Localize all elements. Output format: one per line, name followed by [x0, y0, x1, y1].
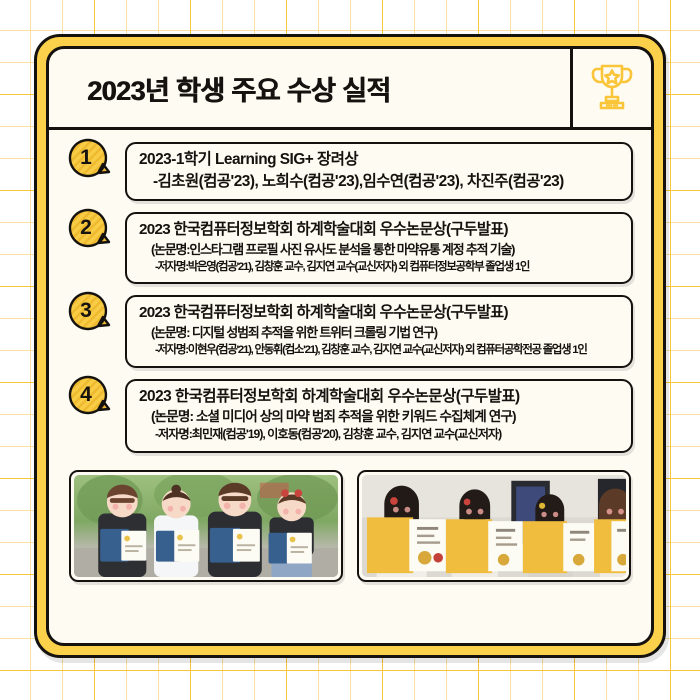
award-authors: -저자명:최민재(컴공'19), 이호동(컴공'20), 김창훈 교수, 김지연… — [139, 426, 621, 444]
list-item: 2 2023 한국컴퓨터정보학회 하계학술대회 우수논문상(구두발표) (논문명… — [67, 212, 633, 284]
badge-number-3: 3 — [67, 291, 111, 335]
badge-number-4: 4 — [67, 375, 111, 419]
page-title: 2023년 학생 주요 수상 실적 — [87, 69, 390, 108]
award-title: 2023 한국컴퓨터정보학회 하계학술대회 우수논문상(구두발표) — [139, 303, 621, 324]
title-zone: 2023년 학생 주요 수상 실적 — [49, 49, 570, 127]
poster-inner-panel: 2023년 학생 주요 수상 실적 — [46, 46, 654, 646]
award-photo-right — [357, 470, 631, 582]
badge-number-1: 1 — [67, 138, 111, 182]
award-title: 2023-1학기 Learning SIG+ 장려상 — [139, 150, 621, 171]
award-card: 2023 한국컴퓨터정보학회 하계학술대회 우수논문상(구두발표) (논문명: … — [125, 379, 633, 454]
list-item: 3 2023 한국컴퓨터정보학회 하계학술대회 우수논문상(구두발표) (논문명… — [67, 295, 633, 367]
badge-number-2: 2 — [67, 208, 111, 252]
award-poster-card: 2023년 학생 주요 수상 실적 — [34, 34, 666, 658]
trophy-cell — [570, 49, 651, 127]
poster-header: 2023년 학생 주요 수상 실적 — [49, 49, 651, 130]
award-photo-left — [69, 470, 343, 582]
badge-label: 2 — [67, 208, 105, 248]
list-item: 1 2023-1학기 Learning SIG+ 장려상 -김초원(컴공'23)… — [67, 142, 633, 201]
award-paper-title: (논문명: 디지털 성범죄 추적을 위한 트위터 크롤링 기법 연구) — [139, 324, 621, 342]
award-list: 1 2023-1학기 Learning SIG+ 장려상 -김초원(컴공'23)… — [49, 130, 651, 453]
award-authors: -저자명:이현우(컴공'21), 안동휘(컴소'21), 김창훈 교수, 김지연… — [139, 342, 621, 359]
award-title: 2023 한국컴퓨터정보학회 하계학술대회 우수논문상(구두발표) — [139, 220, 621, 241]
award-card: 2023-1학기 Learning SIG+ 장려상 -김초원(컴공'23), … — [125, 142, 633, 201]
award-authors: -저자명:박은영(컴공'21), 김창훈 교수, 김지연 교수(교신저자) 외 … — [139, 259, 621, 276]
badge-label: 4 — [67, 375, 105, 415]
list-item: 4 2023 한국컴퓨터정보학회 하계학술대회 우수논문상(구두발표) (논문명… — [67, 379, 633, 454]
photo-gallery — [49, 464, 651, 582]
award-paper-title: (논문명:인스타그램 프로필 사진 유사도 분석을 통한 마약유통 계정 추적 … — [139, 241, 621, 259]
award-title: 2023 한국컴퓨터정보학회 하계학술대회 우수논문상(구두발표) — [139, 387, 621, 408]
award-card: 2023 한국컴퓨터정보학회 하계학술대회 우수논문상(구두발표) (논문명:인… — [125, 212, 633, 284]
award-card: 2023 한국컴퓨터정보학회 하계학술대회 우수논문상(구두발표) (논문명: … — [125, 295, 633, 367]
award-paper-title: (논문명: 소셜 미디어 상의 마약 범죄 추적을 위한 키워드 수집체계 연구… — [139, 407, 621, 426]
trophy-icon — [590, 61, 634, 116]
badge-label: 1 — [67, 138, 105, 178]
badge-label: 3 — [67, 291, 105, 331]
award-recipients: -김초원(컴공'23), 노희수(컴공'23),임수연(컴공'23), 차진주(… — [139, 171, 621, 193]
